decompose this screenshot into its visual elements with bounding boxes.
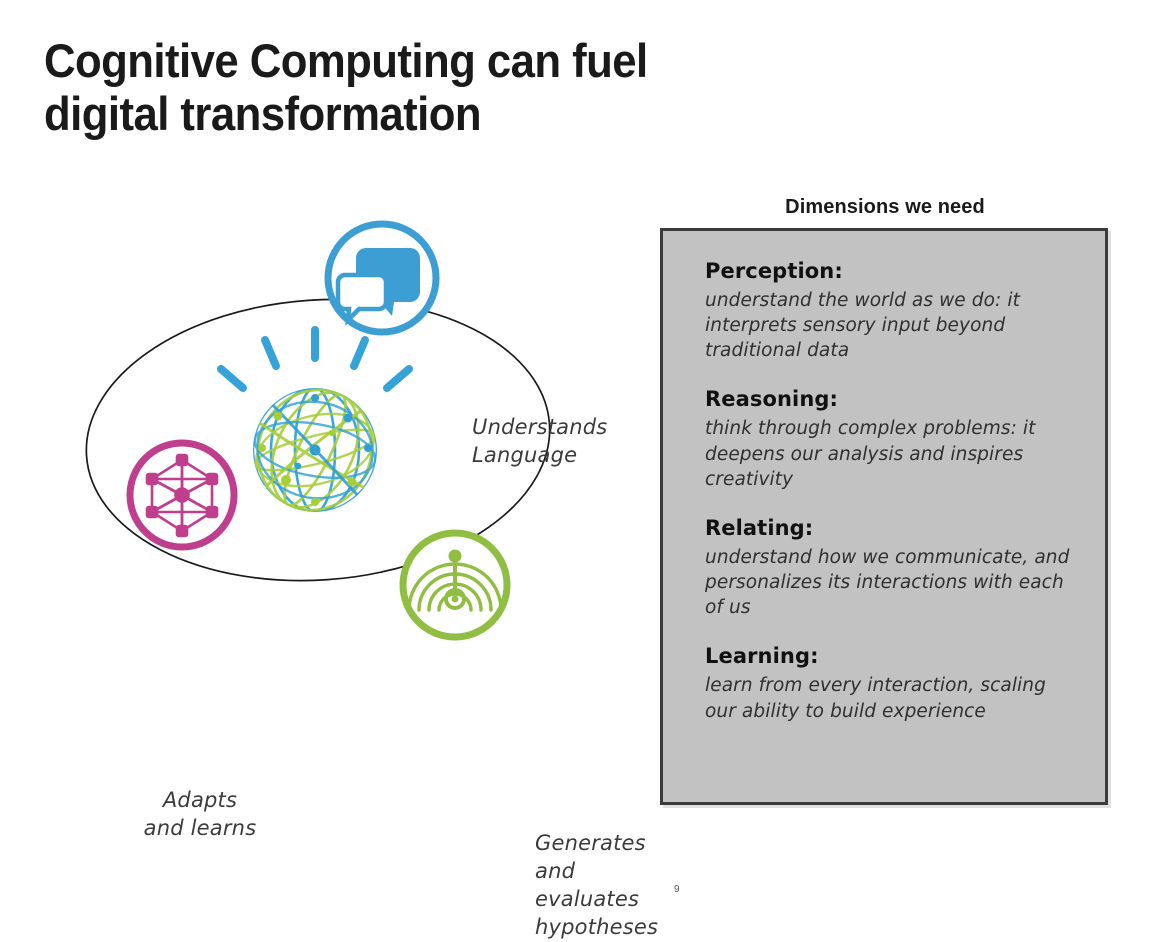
node-generates-hypotheses[interactable] <box>403 533 507 637</box>
page-title: Cognitive Computing can fuel digital tra… <box>44 34 695 140</box>
dimension-body: understand the world as we do: it interp… <box>705 288 1071 363</box>
node-adapts-and-learns[interactable] <box>130 443 234 547</box>
dimension-body: think through complex problems: it deepe… <box>705 416 1071 491</box>
dimension-title: Perception: <box>705 259 1071 283</box>
watson-sphere-icon <box>221 330 409 529</box>
cognitive-diagram: Understands Language Adapts and learns G… <box>40 190 660 790</box>
dimension-body: learn from every interaction, scaling ou… <box>705 673 1071 723</box>
dimension-body: understand how we communicate, and perso… <box>705 545 1071 620</box>
label-understands-language: Understands Language <box>472 414 662 470</box>
dimension-learning: Learning: learn from every interaction, … <box>705 644 1071 723</box>
dimension-title: Relating: <box>705 516 1071 540</box>
dimension-relating: Relating: understand how we communicate,… <box>705 516 1071 620</box>
node-understands-language[interactable] <box>328 224 436 332</box>
dimension-reasoning: Reasoning: think through complex problem… <box>705 387 1071 491</box>
label-generates-hypotheses: Generates and evaluates hypotheses <box>535 830 685 942</box>
dimension-title: Learning: <box>705 644 1071 668</box>
dimensions-heading: Dimensions we need <box>660 196 1110 219</box>
dimension-perception: Perception: understand the world as we d… <box>705 259 1071 363</box>
label-adapts-and-learns: Adapts and learns <box>100 787 300 843</box>
page-number: 9 <box>674 884 680 895</box>
dimensions-panel: Perception: understand the world as we d… <box>660 228 1108 805</box>
diagram-canvas <box>40 190 660 790</box>
dimension-title: Reasoning: <box>705 387 1071 411</box>
